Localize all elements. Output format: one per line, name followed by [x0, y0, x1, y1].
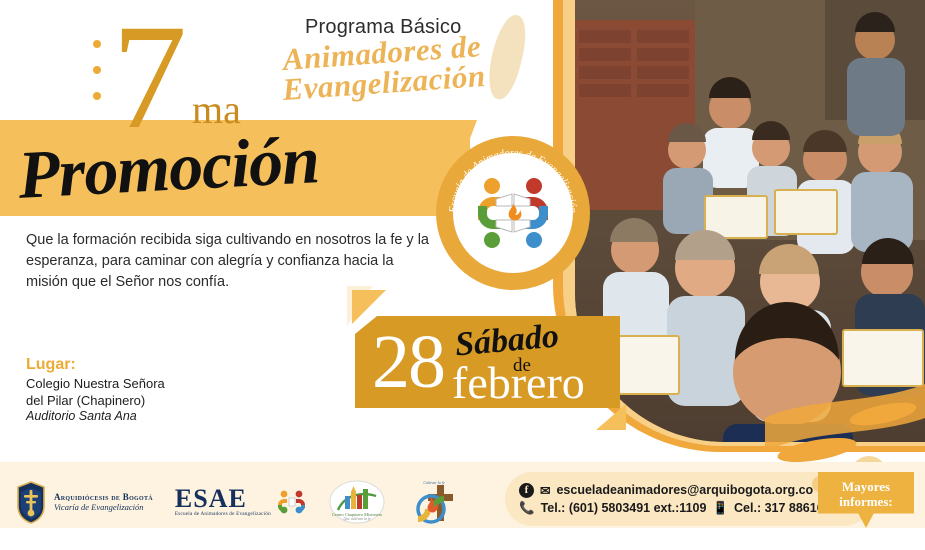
dot-3	[93, 92, 101, 100]
venue-name: Colegio Nuestra Señora del Pilar (Chapin…	[26, 375, 165, 409]
esae-seal-badge: Escuela de Animadores de Evangelización …	[434, 134, 592, 292]
esae-acronym: ESAE	[175, 487, 271, 511]
archdiocese-crest-icon	[14, 480, 48, 524]
contact-email[interactable]: escueladeanimadores@arquibogota.org.co	[556, 483, 813, 497]
message-text: Que la formación recibida siga cultivand…	[26, 230, 436, 293]
archdiocese-logo: Arquidiócesis de Bogotá Vicaría de Evang…	[14, 480, 153, 524]
esae-subtitle: Escuela de Animadores de Evangelización	[175, 511, 271, 517]
more-info-line1: Mayores	[842, 479, 890, 494]
decorative-dots	[93, 40, 101, 100]
archdiocese-vicariate: Vicaría de Evangelización	[54, 502, 153, 512]
date-month: febrero	[452, 360, 585, 406]
esae-logo-text: ESAE Escuela de Animadores de Evangeliza…	[175, 487, 271, 517]
venue-room: Auditorio Santa Ana	[26, 409, 137, 423]
venue-label: Lugar:	[26, 356, 76, 374]
graduates-group-photo	[575, 0, 925, 442]
dot-1	[93, 40, 101, 48]
contact-phone[interactable]: Tel.: (601) 5803491 ext.:1109	[541, 501, 707, 515]
partner-logos: Arquidiócesis de Bogotá Vicaría de Evang…	[14, 476, 461, 528]
more-info-tag-text: Mayores informes:	[839, 479, 892, 509]
footer-white-strip	[0, 528, 925, 550]
cultivar-la-fe-icon: Cultivar la fe	[407, 479, 461, 525]
cultivar-la-fe-logo: Cultivar la fe	[407, 479, 461, 525]
phone-icon: 📞	[519, 501, 535, 516]
archdiocese-logo-text: Arquidiócesis de Bogotá Vicaría de Evang…	[54, 492, 153, 512]
archdiocese-name: Arquidiócesis de Bogotá	[54, 492, 153, 502]
program-script-title: Animadores de Evangelización	[266, 30, 500, 106]
more-info-line2: informes:	[839, 494, 892, 509]
envelope-icon: ✉	[540, 483, 550, 498]
esae-logo: ESAE Escuela de Animadores de Evangeliza…	[175, 487, 307, 517]
venue-name-line1: Colegio Nuestra Señora	[26, 375, 165, 392]
brush-dot-decoration	[500, 28, 517, 45]
promotional-poster: 7 ma Programa Básico Animadores de Evang…	[0, 0, 925, 550]
centro-chapinero-icon: Centro Chapinero Misionero Que cultivan …	[329, 480, 385, 524]
date-day-number: 28	[372, 324, 444, 400]
svg-text:Que cultivan la fe: Que cultivan la fe	[343, 517, 370, 521]
facebook-icon[interactable]: f	[519, 483, 534, 498]
dot-2	[93, 66, 101, 74]
svg-text:Cultivar la fe: Cultivar la fe	[423, 480, 445, 485]
esae-figures-icon	[277, 489, 307, 515]
venue-name-line2: del Pilar (Chapinero)	[26, 392, 165, 409]
mobile-icon: 📱	[712, 501, 728, 516]
centro-chapinero-logo: Centro Chapinero Misionero Que cultivan …	[329, 480, 385, 524]
promotion-title: Promoción	[16, 116, 321, 218]
